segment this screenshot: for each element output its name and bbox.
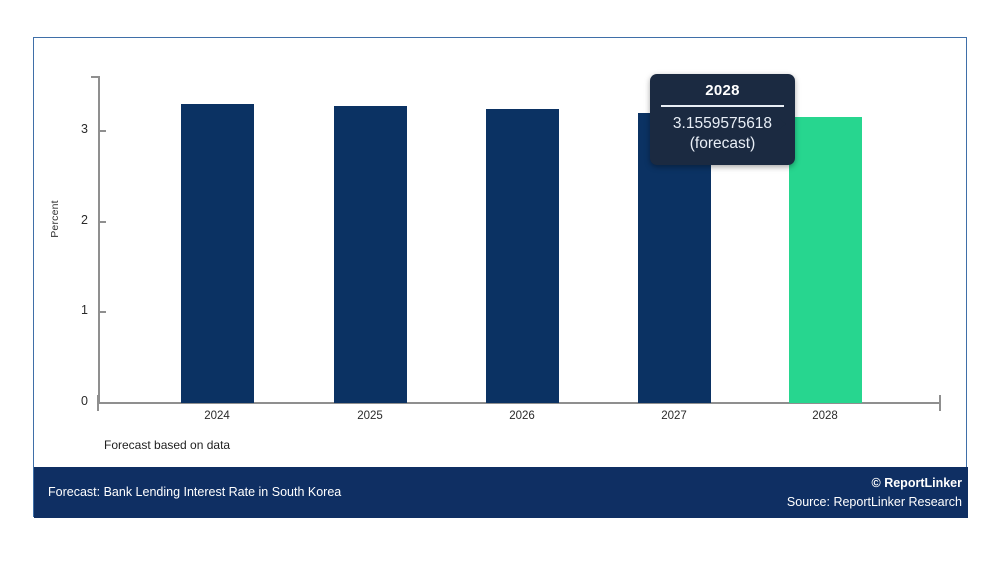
chart-screenshot: Percent 0 1 2 3 xyxy=(0,0,1000,562)
x-tick-label-2024: 2024 xyxy=(157,410,277,422)
x-tick-label-2028: 2028 xyxy=(765,410,885,422)
x-tick-label-2025: 2025 xyxy=(310,410,430,422)
y-tick-1 xyxy=(98,311,106,313)
x-axis-right-cap xyxy=(939,395,941,411)
tooltip-divider xyxy=(661,105,784,107)
bar-2025[interactable] xyxy=(334,106,407,403)
y-tick-2 xyxy=(98,221,106,223)
forecast-note: Forecast based on data xyxy=(104,438,230,452)
x-tick-label-2027: 2027 xyxy=(614,410,734,422)
footer-brand: © ReportLinker xyxy=(787,474,962,493)
bar-2024[interactable] xyxy=(181,104,254,403)
chart-card: Percent 0 1 2 3 xyxy=(33,37,967,517)
bar-fill xyxy=(486,109,559,403)
bar-2028[interactable] xyxy=(789,117,862,403)
tooltip-sublabel: (forecast) xyxy=(659,134,786,155)
bar-fill xyxy=(789,117,862,403)
footer-source: Source: ReportLinker Research xyxy=(787,493,962,512)
plot-area: Percent 0 1 2 3 xyxy=(34,38,968,518)
bar-fill xyxy=(334,106,407,403)
bar-2026[interactable] xyxy=(486,109,559,403)
footer-credits: © ReportLinker Source: ReportLinker Rese… xyxy=(787,474,962,513)
tooltip-title: 2028 xyxy=(659,82,786,105)
y-tick-label-3: 3 xyxy=(48,122,88,136)
y-tick-3 xyxy=(98,130,106,132)
footer-band: Forecast: Bank Lending Interest Rate in … xyxy=(34,467,968,518)
y-tick-label-1: 1 xyxy=(48,303,88,317)
y-axis-top-cap xyxy=(91,76,100,78)
tooltip-arrow-icon xyxy=(777,117,786,131)
y-tick-0 xyxy=(98,402,106,404)
y-axis-line xyxy=(98,76,100,403)
y-tick-label-0: 0 xyxy=(48,394,88,408)
tooltip: 2028 3.1559575618 (forecast) xyxy=(650,74,795,165)
bar-fill xyxy=(181,104,254,403)
tooltip-value: 3.1559575618 xyxy=(659,114,786,135)
footer-title: Forecast: Bank Lending Interest Rate in … xyxy=(48,485,341,499)
y-tick-label-2: 2 xyxy=(48,213,88,227)
x-tick-label-2026: 2026 xyxy=(462,410,582,422)
